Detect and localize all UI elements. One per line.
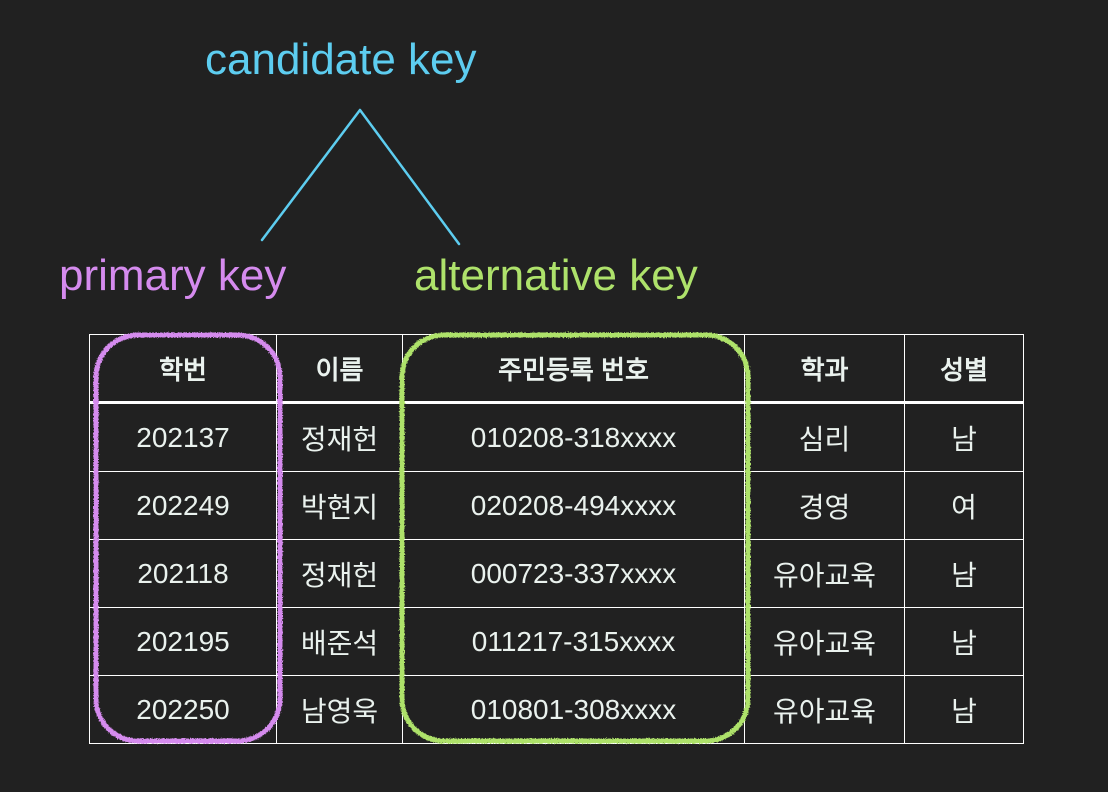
cell-rrn: 010801-308xxxx <box>403 676 745 744</box>
cell-student-id: 202118 <box>90 540 277 608</box>
column-header-rrn: 주민등록 번호 <box>403 335 745 403</box>
cell-gender: 남 <box>905 608 1024 676</box>
cell-student-id: 202195 <box>90 608 277 676</box>
cell-student-id: 202137 <box>90 403 277 472</box>
table-row: 202249 박현지 020208-494xxxx 경영 여 <box>90 472 1024 540</box>
cell-rrn: 011217-315xxxx <box>403 608 745 676</box>
column-header-department: 학과 <box>745 335 905 403</box>
primary-key-label: primary key <box>59 254 286 298</box>
cell-name: 정재헌 <box>277 540 403 608</box>
column-header-student-id: 학번 <box>90 335 277 403</box>
student-table-container: 학번 이름 주민등록 번호 학과 성별 202137 정재헌 010208-31… <box>89 334 1023 738</box>
column-header-gender: 성별 <box>905 335 1024 403</box>
diagram-canvas: candidate key primary key alternative ke… <box>0 0 1108 792</box>
student-table: 학번 이름 주민등록 번호 학과 성별 202137 정재헌 010208-31… <box>89 334 1024 744</box>
table-row: 202118 정재헌 000723-337xxxx 유아교육 남 <box>90 540 1024 608</box>
cell-gender: 남 <box>905 676 1024 744</box>
table-row: 202137 정재헌 010208-318xxxx 심리 남 <box>90 403 1024 472</box>
table-row: 202250 남영욱 010801-308xxxx 유아교육 남 <box>90 676 1024 744</box>
cell-gender: 남 <box>905 540 1024 608</box>
cell-department: 유아교육 <box>745 608 905 676</box>
table-row: 202195 배준석 011217-315xxxx 유아교육 남 <box>90 608 1024 676</box>
cell-rrn: 010208-318xxxx <box>403 403 745 472</box>
cell-student-id: 202250 <box>90 676 277 744</box>
cell-department: 유아교육 <box>745 676 905 744</box>
cell-rrn: 020208-494xxxx <box>403 472 745 540</box>
cell-name: 정재헌 <box>277 403 403 472</box>
cell-name: 박현지 <box>277 472 403 540</box>
cell-department: 경영 <box>745 472 905 540</box>
table-header-row: 학번 이름 주민등록 번호 학과 성별 <box>90 335 1024 403</box>
cell-name: 배준석 <box>277 608 403 676</box>
candidate-key-label: candidate key <box>205 38 477 82</box>
cell-gender: 남 <box>905 403 1024 472</box>
cell-department: 심리 <box>745 403 905 472</box>
cell-gender: 여 <box>905 472 1024 540</box>
cell-student-id: 202249 <box>90 472 277 540</box>
cell-rrn: 000723-337xxxx <box>403 540 745 608</box>
connector-polyline <box>262 110 459 244</box>
column-header-name: 이름 <box>277 335 403 403</box>
cell-name: 남영욱 <box>277 676 403 744</box>
cell-department: 유아교육 <box>745 540 905 608</box>
alternative-key-label: alternative key <box>414 254 698 298</box>
